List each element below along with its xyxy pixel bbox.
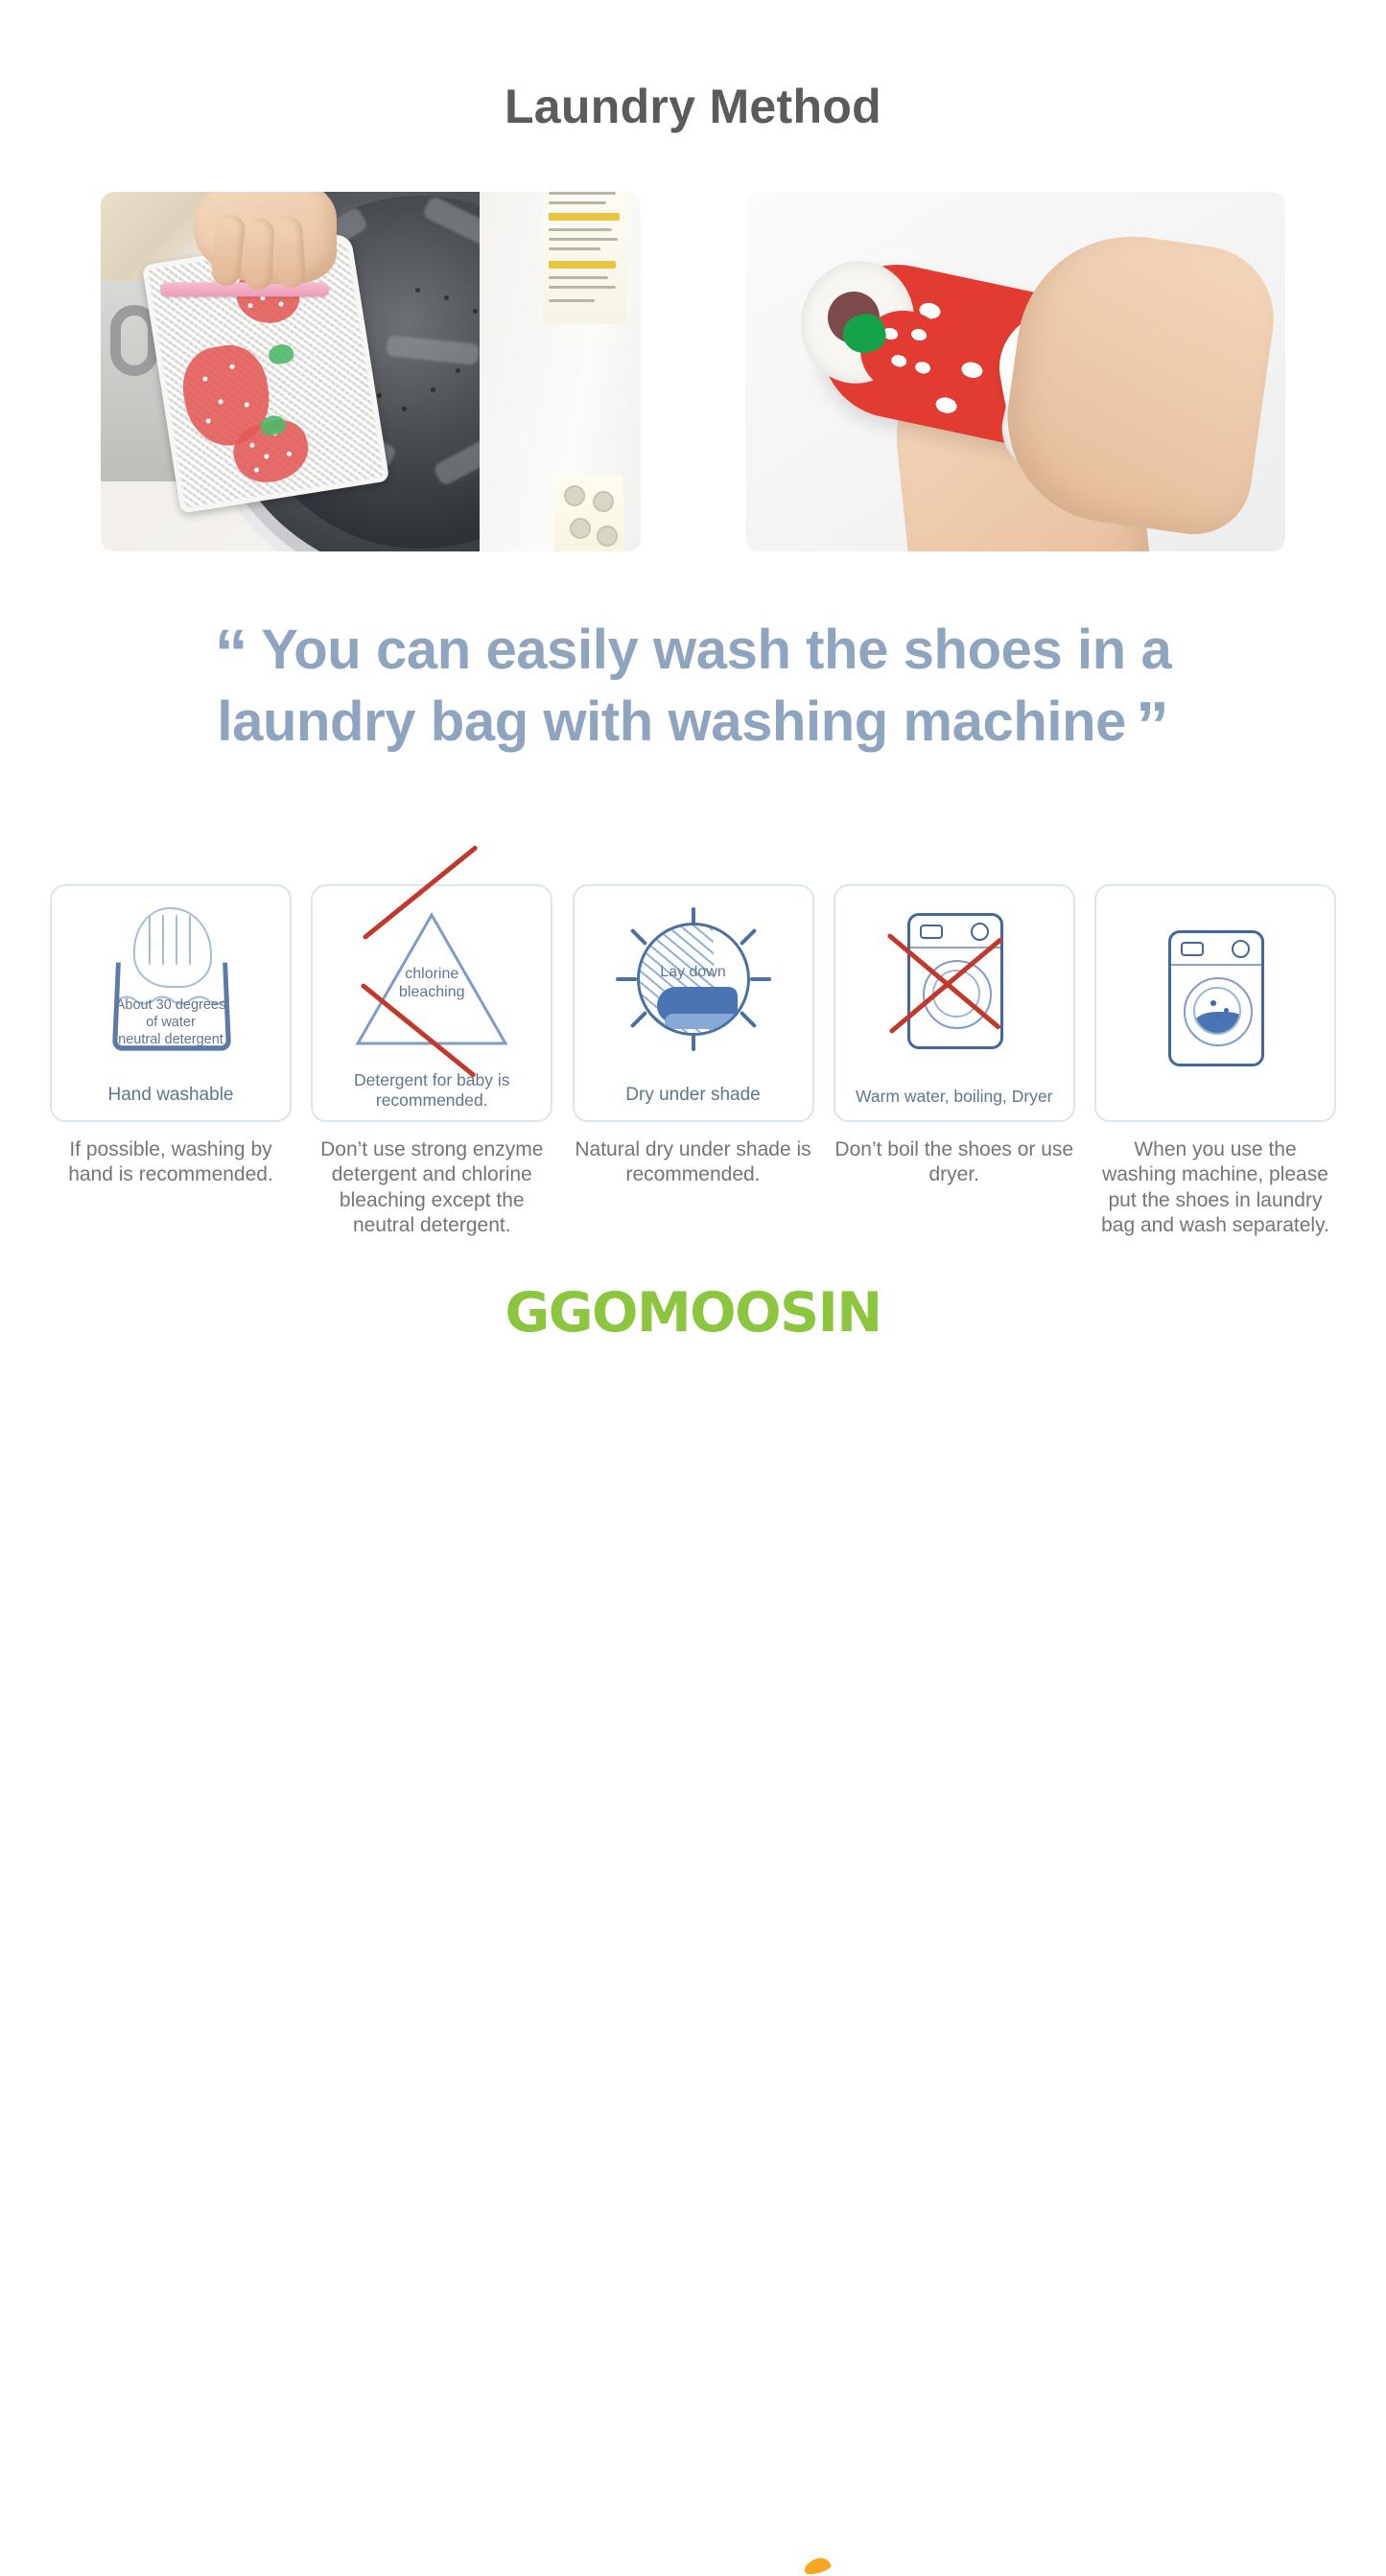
quote-line-2: laundry bag with washing machine: [217, 691, 1126, 753]
care-card-washing-machine: When you use the washing machine, please…: [1094, 884, 1336, 1239]
care-caption-washing-machine: When you use the washing machine, please…: [1094, 1137, 1336, 1239]
care-card-no-dryer: Warm water, boiling, Dryer Don’t boil th…: [834, 884, 1075, 1239]
photo-row: [101, 192, 1285, 551]
hand-wash-basin-icon: About 30 degrees of water neutral deterg…: [80, 902, 262, 1072]
brand-accent-icon: [803, 2556, 833, 2576]
page-title: Laundry Method: [0, 79, 1386, 134]
no-chlorine-bleach-icon: chlorine bleaching: [341, 902, 523, 1072]
care-label-dry-under-shade: Dry under shade: [578, 1085, 809, 1107]
washing-machine-icon: [1124, 913, 1306, 1084]
washer-sticker: [554, 476, 623, 551]
washer-front-panel: [480, 192, 641, 551]
care-label-hand-washable: Hand washable: [56, 1085, 286, 1107]
care-label-baby-detergent: Detergent for baby is recommended.: [317, 1070, 547, 1111]
quote-line-1: You can easily wash the shoes in a: [261, 619, 1171, 681]
care-instruction-row: About 30 degrees of water neutral deterg…: [50, 884, 1336, 1239]
care-caption-no-dryer: Don’t boil the shoes or use dryer.: [834, 1137, 1075, 1188]
dry-overlay-lay-down: Lay down: [602, 963, 785, 982]
care-card-dry-shade: Lay down Dry under shade Natural dry und…: [573, 884, 814, 1239]
care-card-hand-wash: About 30 degrees of water neutral deterg…: [50, 884, 292, 1239]
hand-wash-overlay-line-2: of water: [80, 1015, 262, 1032]
laundry-method-infographic: Laundry Method: [0, 0, 1386, 1386]
brand-logo-text: GGOMOOSIN: [505, 1281, 881, 1345]
photo-wiping-shoe: [745, 192, 1285, 551]
care-label-warm-water-dryer: Warm water, boiling, Dryer: [839, 1087, 1069, 1107]
care-caption-hand-wash: If possible, washing by hand is recommen…: [50, 1137, 292, 1188]
washer-info-label: [543, 192, 627, 324]
care-card-no-bleach: chlorine bleaching Detergent for baby is…: [311, 884, 552, 1239]
brand-logo: GGOMOOSIN: [0, 1281, 1386, 1345]
hand-wash-overlay-line-1: About 30 degrees: [80, 997, 262, 1015]
quote-close-icon: ”: [1136, 688, 1169, 762]
bleach-overlay-line-1: chlorine: [341, 965, 523, 984]
photo-laundry-bag-in-washer: [101, 192, 641, 551]
care-caption-dry-shade: Natural dry under shade is recommended.: [573, 1137, 814, 1188]
hand-wash-overlay-line-3: neutral detergent: [80, 1032, 262, 1049]
no-dryer-icon: [863, 902, 1045, 1072]
quote-open-icon: “: [215, 616, 248, 691]
care-caption-no-bleach: Don’t use strong enzyme detergent and ch…: [311, 1137, 552, 1239]
quote-block: “You can easily wash the shoes in a laun…: [0, 614, 1386, 759]
dry-in-shade-icon: Lay down: [602, 902, 785, 1072]
